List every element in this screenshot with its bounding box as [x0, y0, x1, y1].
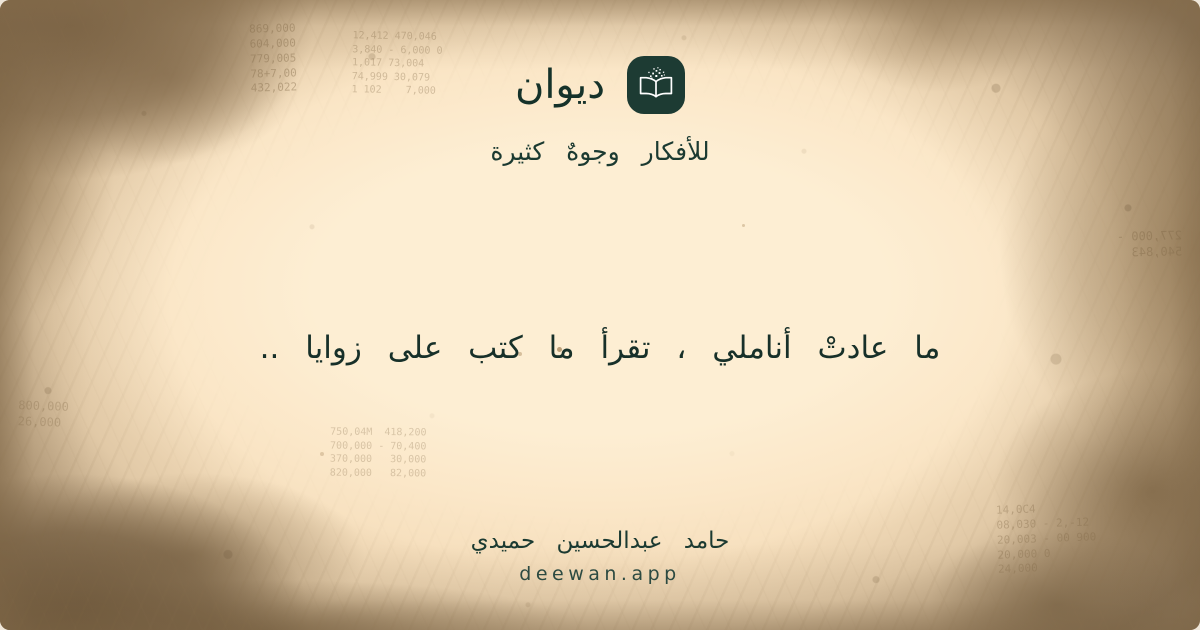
author-name: حامد عبدالحسين حميدي [471, 528, 730, 556]
brand-header: ديوان [515, 56, 685, 114]
card-content: ديوان للأفكار وجوهٌ كثيرة ما عادتْ أنامل… [0, 0, 1200, 630]
brand-title: ديوان [515, 65, 605, 105]
poem-line: ما عادتْ أناملي ، تقرأ ما كتب على زوايا … [260, 324, 941, 372]
poem-card: 869,000 604,000 779,005 78+7,00 432,022 … [0, 0, 1200, 630]
site-url: deewan.app [519, 563, 680, 586]
brand-tagline: للأفكار وجوهٌ كثيرة [490, 136, 709, 169]
poem-body: ما عادتْ أناملي ، تقرأ ما كتب على زوايا … [60, 169, 1140, 528]
open-book-sparkles-icon [627, 56, 685, 114]
card-footer: حامد عبدالحسين حميدي deewan.app [471, 528, 730, 586]
